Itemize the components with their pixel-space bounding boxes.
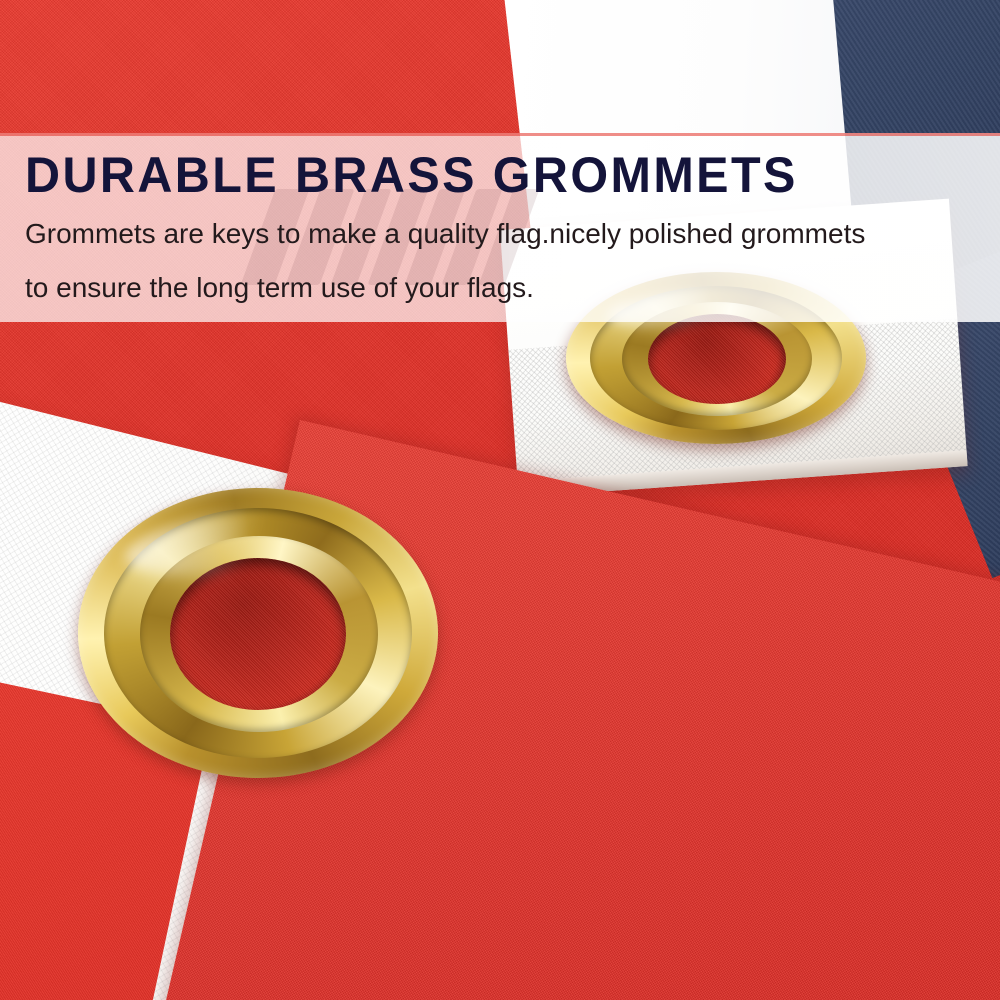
body-copy-line-1: Grommets are keys to make a quality flag…	[25, 207, 865, 261]
grommet-hole-showing-red-fabric	[648, 314, 786, 404]
info-caption-band: DURABLE BRASS GROMMETS Grommets are keys…	[0, 133, 1000, 322]
body-copy-line-2: to ensure the long term use of your flag…	[25, 261, 865, 315]
caption-text-block: DURABLE BRASS GROMMETS Grommets are keys…	[25, 133, 1000, 322]
headline-text: DURABLE BRASS GROMMETS	[25, 147, 798, 203]
large-brass-grommet	[78, 488, 438, 778]
product-marketing-image: DURABLE BRASS GROMMETS Grommets are keys…	[0, 0, 1000, 1000]
body-copy: Grommets are keys to make a quality flag…	[25, 207, 865, 315]
grommet-hole-showing-red-fabric	[170, 558, 346, 710]
